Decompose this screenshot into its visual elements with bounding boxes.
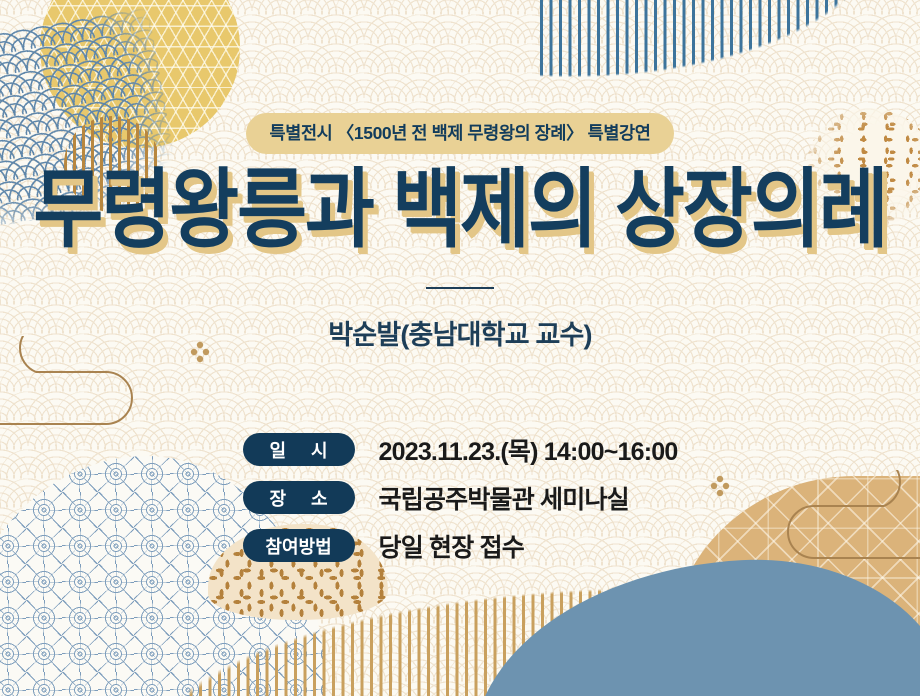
info-row-location: 장 소 국립공주박물관 세미나실 — [243, 480, 678, 516]
exhibition-subtitle-banner: 특별전시 〈1500년 전 백제 무령왕의 장례〉 특별강연 — [246, 113, 675, 154]
speaker-name: 박순발(충남대학교 교수) — [328, 313, 591, 352]
info-label-location: 장 소 — [243, 481, 355, 514]
info-label-participation: 참여방법 — [243, 529, 355, 562]
info-label-datetime: 일 시 — [243, 433, 355, 466]
info-value-datetime: 2023.11.23.(목) 14:00~16:00 — [379, 432, 678, 468]
poster-content: 특별전시 〈1500년 전 백제 무령왕의 장례〉 특별강연 무령왕릉과 백제의… — [0, 0, 920, 696]
event-poster: 특별전시 〈1500년 전 백제 무령왕의 장례〉 특별강연 무령왕릉과 백제의… — [0, 0, 920, 696]
info-value-participation: 당일 현장 접수 — [379, 528, 525, 564]
title-divider — [426, 287, 494, 289]
page-title: 무령왕릉과 백제의 상장의례 — [33, 159, 886, 261]
event-info-table: 일 시 2023.11.23.(목) 14:00~16:00 장 소 국립공주박… — [243, 432, 678, 564]
info-row-participation: 참여방법 당일 현장 접수 — [243, 528, 678, 564]
info-row-datetime: 일 시 2023.11.23.(목) 14:00~16:00 — [243, 432, 678, 468]
info-value-location: 국립공주박물관 세미나실 — [379, 480, 629, 516]
